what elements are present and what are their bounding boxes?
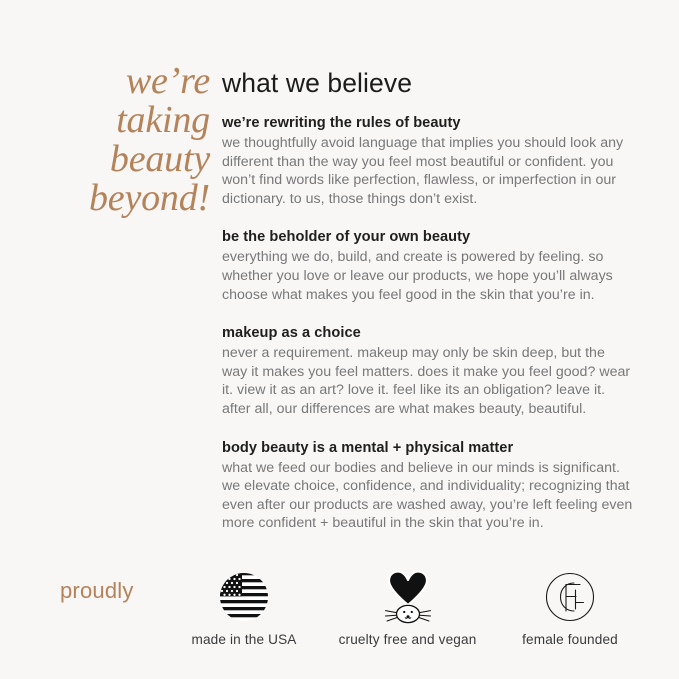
belief-section: be the beholder of your own beauty every… <box>222 228 634 304</box>
brand-headline: we’re taking beauty beyond! <box>40 62 210 218</box>
page-title: what we believe <box>222 68 634 98</box>
belief-section: makeup as a choice never a requirement. … <box>222 324 634 418</box>
cruelty-free-bunny-icon <box>325 568 490 626</box>
section-body: what we feed our bodies and believe in o… <box>222 459 634 533</box>
section-body: everything we do, build, and create is p… <box>222 248 634 304</box>
section-title: we’re rewriting the rules of beauty <box>222 114 634 133</box>
section-title: be the beholder of your own beauty <box>222 228 634 247</box>
headline-line-3: beauty <box>40 140 210 179</box>
headline-line-1: we’re <box>40 62 210 101</box>
headline-line-2: taking <box>40 101 210 140</box>
badge-label: female founded <box>495 632 645 647</box>
proudly-label: proudly <box>60 578 134 604</box>
section-title: body beauty is a mental + physical matte… <box>222 439 634 458</box>
badges-row: proudly <box>0 560 679 679</box>
usa-flag-circle-icon <box>168 568 320 626</box>
badge-label: made in the USA <box>168 632 320 647</box>
belief-section: we’re rewriting the rules of beauty we t… <box>222 114 634 208</box>
section-title: makeup as a choice <box>222 324 634 343</box>
belief-section: body beauty is a mental + physical matte… <box>222 439 634 533</box>
believe-column: what we believe we’re rewriting the rule… <box>222 68 634 533</box>
section-body: never a requirement. makeup may only be … <box>222 344 634 418</box>
badge-made-in-usa: made in the USA <box>168 568 320 647</box>
badge-female-founded: female founded <box>495 568 645 647</box>
female-founded-monogram-icon <box>495 568 645 626</box>
section-body: we thoughtfully avoid language that impl… <box>222 134 634 208</box>
main-content: we’re taking beauty beyond! what we beli… <box>0 0 679 560</box>
page-root: we’re taking beauty beyond! what we beli… <box>0 0 679 679</box>
badge-cruelty-free: cruelty free and vegan <box>325 568 490 647</box>
headline-line-4: beyond! <box>40 179 210 218</box>
badge-label: cruelty free and vegan <box>325 632 490 647</box>
